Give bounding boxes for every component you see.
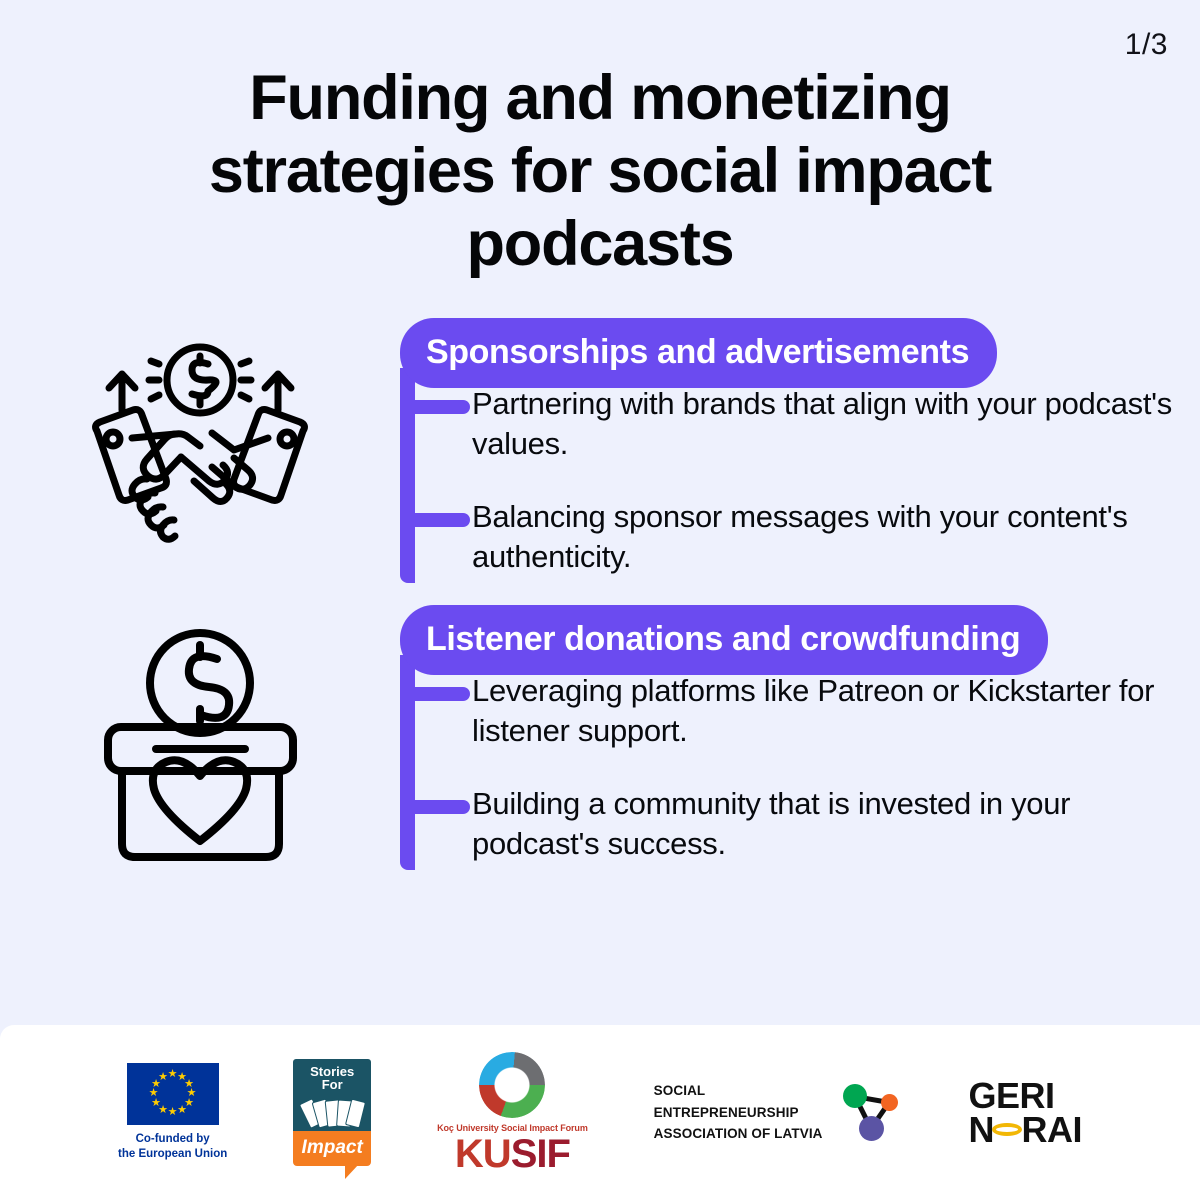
seal-text: SOCIAL ENTREPRENEURSHIP ASSOCIATION OF L… [654,1080,823,1146]
eu-star-icon: ★ [149,1088,159,1099]
sfi-bottom-text: Impact [293,1131,371,1166]
logo-geri-norai: GERI NORAI [968,1079,1082,1147]
logo-european-union: ★★★★★★★★★★★★ Co-funded by the European U… [118,1063,227,1162]
list-item: Leveraging platforms like Patreon or Kic… [472,671,1200,758]
section-body: Sponsorships and advertisements Partneri… [400,318,1200,583]
list-item: Partnering with brands that align with y… [472,384,1200,471]
seal-network-icon [839,1080,903,1144]
icon-column [0,605,400,870]
eu-flag-icon: ★★★★★★★★★★★★ [127,1063,219,1125]
page-indicator: 1/3 [1125,28,1168,62]
eu-star-icon: ★ [177,1105,187,1116]
sfi-top-text: Stories For [293,1059,371,1095]
sfi-cards-icon [293,1095,371,1131]
eu-star-icon: ★ [151,1098,161,1109]
node-green [843,1084,867,1108]
handshake-money-icon [75,338,325,553]
geri-norai-wordmark: GERI NORAI [968,1079,1082,1147]
halo-icon [992,1123,1022,1136]
section-sponsorships: Sponsorships and advertisements Partneri… [0,318,1200,583]
section-heading-sponsorships: Sponsorships and advertisements [400,318,997,388]
list-item: Balancing sponsor messages with your con… [472,497,1200,584]
section-body: Listener donations and crowdfunding Leve… [400,605,1200,870]
kusif-swirl-icon [479,1052,545,1118]
kusif-wordmark: KUSIF [455,1134,570,1174]
page-title: Funding and monetizing strategies for so… [0,62,1200,281]
footer-logo-bar: ★★★★★★★★★★★★ Co-funded by the European U… [0,1025,1200,1200]
eu-caption: Co-funded by the European Union [118,1132,227,1162]
eu-star-icon: ★ [168,1107,178,1118]
node-orange [881,1094,898,1111]
bullet-list: Partnering with brands that align with y… [400,384,1200,583]
stories-for-impact-icon: Stories For Impact [293,1059,371,1166]
content-area: Sponsorships and advertisements Partneri… [0,318,1200,870]
list-item: Building a community that is invested in… [472,784,1200,871]
section-heading-donations: Listener donations and crowdfunding [400,605,1048,675]
eu-star-icon: ★ [158,1072,168,1083]
speech-bubble-tail-icon [345,1164,359,1179]
bullet-list: Leveraging platforms like Patreon or Kic… [400,671,1200,870]
icon-column [0,318,400,553]
logo-kusif: Koç University Social Impact Forum KUSIF [437,1052,588,1174]
logo-stories-for-impact: Stories For Impact [293,1059,371,1166]
node-purple [859,1116,884,1141]
logo-seal-latvia: SOCIAL ENTREPRENEURSHIP ASSOCIATION OF L… [654,1080,903,1146]
section-donations: Listener donations and crowdfunding Leve… [0,605,1200,870]
donation-box-heart-icon [93,625,308,870]
eu-star-icon: ★ [168,1069,178,1080]
